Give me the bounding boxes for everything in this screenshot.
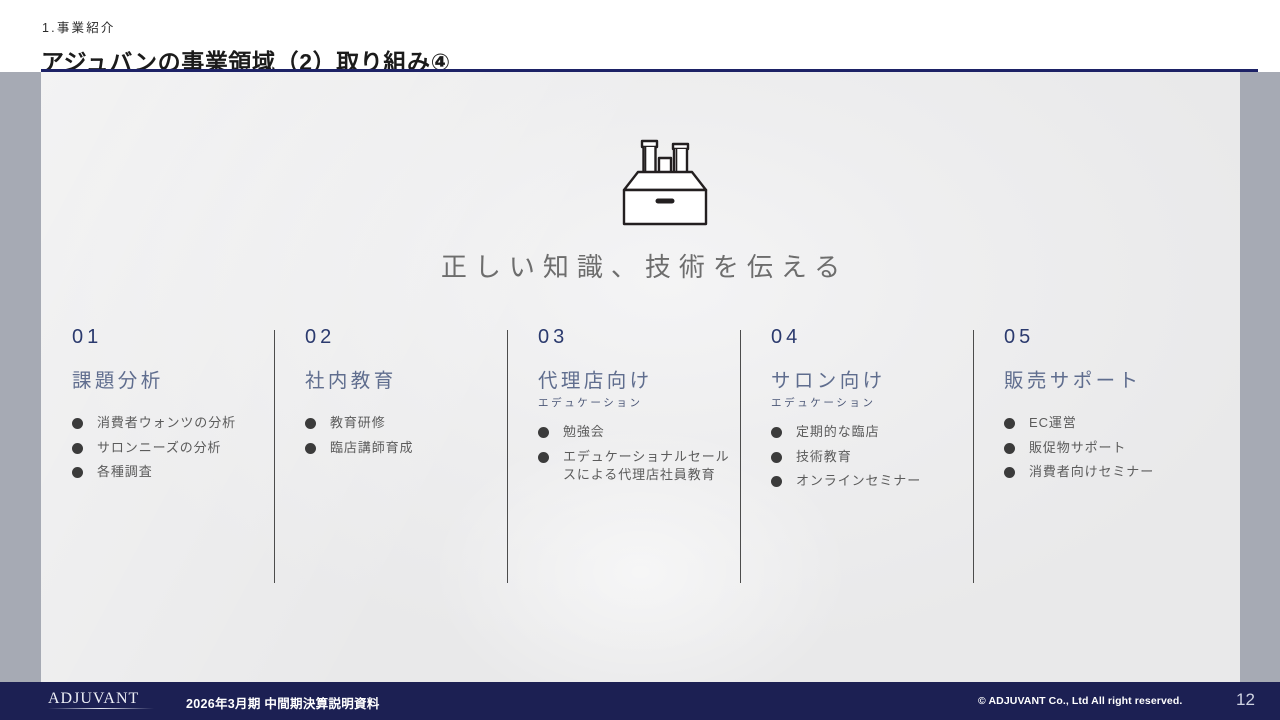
right-gray-band <box>1240 72 1280 682</box>
list-item-label: EC運営 <box>1029 415 1077 430</box>
bullet-dot-icon <box>305 443 316 454</box>
list-item: EC運営 <box>1004 414 1198 432</box>
bullet-dot-icon <box>1004 418 1015 429</box>
list-item: 販促物サポート <box>1004 439 1198 457</box>
column-05: 05 販売サポート EC運営 販促物サポート 消費者向けセミナー <box>973 327 1206 662</box>
list-item-label: 消費者向けセミナー <box>1029 464 1154 479</box>
list-item: 消費者向けセミナー <box>1004 463 1198 481</box>
bullet-dot-icon <box>72 418 83 429</box>
list-item-label: 教育研修 <box>330 415 386 430</box>
list-item: 技術教育 <box>771 448 965 466</box>
column-02: 02 社内教育 教育研修 臨店講師育成 <box>274 327 507 662</box>
slide-content-area: 正しい知識、技術を伝える 01 課題分析 消費者ウォンツの分析 サロンニーズの分… <box>41 72 1240 682</box>
column-bullet-list: EC運営 販促物サポート 消費者向けセミナー <box>1004 414 1198 481</box>
column-title: 課題分析 <box>72 370 266 392</box>
column-bullet-list: 消費者ウォンツの分析 サロンニーズの分析 各種調査 <box>72 414 266 481</box>
column-subtitle: エデュケーション <box>771 395 965 410</box>
list-item-label: 勉強会 <box>563 424 605 439</box>
list-item: エデュケーショナルセールスによる代理店社員教育 <box>538 448 732 485</box>
column-03: 03 代理店向け エデュケーション 勉強会 エデュケーショナルセールスによる代理… <box>507 327 740 662</box>
logo-underline <box>48 708 154 709</box>
column-number: 04 <box>771 327 965 347</box>
bullet-dot-icon <box>538 452 549 463</box>
list-item-label: 技術教育 <box>796 449 852 464</box>
footer-document-title: 2026年3月期 中間期決算説明資料 <box>186 693 380 712</box>
page-number: 12 <box>1236 690 1266 710</box>
bullet-dot-icon <box>1004 467 1015 478</box>
list-item-label: サロンニーズの分析 <box>97 440 221 455</box>
adjuvant-logo: ADJUVANT <box>48 691 154 713</box>
product-box-icon <box>602 122 722 230</box>
column-01: 01 課題分析 消費者ウォンツの分析 サロンニーズの分析 各種調査 <box>41 327 274 662</box>
bullet-dot-icon <box>305 418 316 429</box>
list-item: 定期的な臨店 <box>771 423 965 441</box>
slide: 1.事業紹介 アジュバンの事業領域（2）取り組み④ <box>0 0 1280 720</box>
bullet-dot-icon <box>538 427 549 438</box>
column-number: 03 <box>538 327 732 347</box>
column-04: 04 サロン向け エデュケーション 定期的な臨店 技術教育 オンラインセミナー <box>740 327 973 662</box>
list-item: 各種調査 <box>72 463 266 481</box>
bullet-dot-icon <box>72 443 83 454</box>
list-item: 教育研修 <box>305 414 499 432</box>
list-item: 勉強会 <box>538 423 732 441</box>
bullet-dot-icon <box>771 427 782 438</box>
bullet-dot-icon <box>771 476 782 487</box>
list-item-label: 定期的な臨店 <box>796 424 879 439</box>
column-number: 02 <box>305 327 499 347</box>
column-title: 販売サポート <box>1004 370 1198 392</box>
logo-wordmark: ADJUVANT <box>48 691 154 706</box>
left-gray-band <box>0 72 41 682</box>
section-eyebrow: 1.事業紹介 <box>42 17 116 36</box>
list-item: 消費者ウォンツの分析 <box>72 414 266 432</box>
list-item: オンラインセミナー <box>771 472 965 490</box>
column-title: サロン向け <box>771 370 965 392</box>
list-item: 臨店講師育成 <box>305 439 499 457</box>
bullet-dot-icon <box>771 452 782 463</box>
bullet-dot-icon <box>72 467 83 478</box>
column-bullet-list: 教育研修 臨店講師育成 <box>305 414 499 457</box>
column-title: 代理店向け <box>538 370 732 392</box>
list-item-label: 販促物サポート <box>1029 440 1126 455</box>
slide-header: 1.事業紹介 アジュバンの事業領域（2）取り組み④ <box>0 0 1280 72</box>
column-subtitle: エデュケーション <box>538 395 732 410</box>
list-item-label: 各種調査 <box>97 464 153 479</box>
slide-footer: ADJUVANT 2026年3月期 中間期決算説明資料 © ADJUVANT C… <box>0 682 1280 720</box>
bullet-dot-icon <box>1004 443 1015 454</box>
list-item: サロンニーズの分析 <box>72 439 266 457</box>
initiative-columns: 01 課題分析 消費者ウォンツの分析 サロンニーズの分析 各種調査 02 社内教… <box>41 327 1240 662</box>
column-title: 社内教育 <box>305 370 499 392</box>
list-item-label: エデュケーショナルセールスによる代理店社員教育 <box>563 449 730 482</box>
list-item-label: 臨店講師育成 <box>330 440 413 455</box>
column-number: 05 <box>1004 327 1198 347</box>
list-item-label: オンラインセミナー <box>796 473 921 488</box>
column-number: 01 <box>72 327 266 347</box>
hero-tagline: 正しい知識、技術を伝える <box>41 247 1240 284</box>
list-item-label: 消費者ウォンツの分析 <box>97 415 236 430</box>
footer-copyright: © ADJUVANT Co., Ltd All right reserved. <box>978 695 1182 707</box>
column-bullet-list: 定期的な臨店 技術教育 オンラインセミナー <box>771 423 965 490</box>
column-bullet-list: 勉強会 エデュケーショナルセールスによる代理店社員教育 <box>538 423 732 484</box>
